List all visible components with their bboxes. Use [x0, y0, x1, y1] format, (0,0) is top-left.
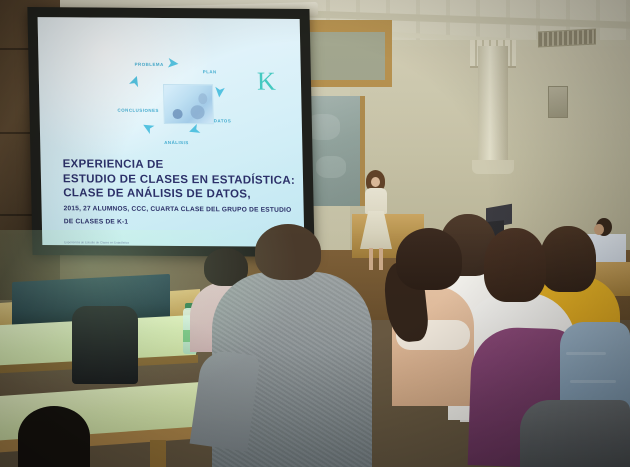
- cycle-label-analisis: Análisis: [164, 140, 189, 145]
- seated-man-face: [594, 224, 604, 235]
- student-grey-sweater-hair: [255, 224, 321, 280]
- ppdac-cycle-diagram: Problema ➤ Plan ➤ Datos ➤ Análisis ➤ Con…: [120, 60, 252, 149]
- window: [300, 20, 392, 87]
- presenter-leg: [369, 248, 373, 270]
- cycle-label-plan: Plan: [203, 69, 217, 74]
- slide-title-line-1: EXPERIENCIA DE: [63, 157, 293, 173]
- presenter-leg: [379, 248, 383, 270]
- presenter-torso: [365, 188, 387, 214]
- ceiling-vent: [538, 28, 596, 47]
- cycle-arrow-right: ➤: [211, 85, 227, 99]
- classroom-photo: Problema ➤ Plan ➤ Datos ➤ Análisis ➤ Con…: [0, 0, 630, 467]
- presenter-face: [371, 177, 380, 187]
- slide-title-line-3: CLASE DE ANÁLISIS DE DATOS,: [63, 187, 293, 203]
- projection-screen: Problema ➤ Plan ➤ Datos ➤ Análisis ➤ Con…: [38, 17, 305, 247]
- pilaster-column: [478, 46, 508, 166]
- wall-speaker: [548, 86, 568, 118]
- student-bare-shoulders-hair: [396, 228, 462, 290]
- pilaster-base: [472, 160, 514, 174]
- student-mustard-hair: [540, 226, 596, 292]
- logo-letter-k: K: [257, 67, 276, 97]
- student-white-tee-hair: [484, 228, 546, 302]
- slide-text-block: EXPERIENCIA DE ESTUDIO DE CLASES EN ESTA…: [63, 157, 295, 246]
- cycle-arrow-left: ➤: [126, 73, 144, 90]
- student-foreground-left-head: [18, 406, 90, 467]
- slide-title-line-2: ESTUDIO DE CLASES EN ESTADÍSTICA:: [63, 172, 293, 188]
- cycle-arrow-top: ➤: [166, 55, 180, 71]
- slide-subtitle-line-1: 2015, 27 ALUMNOS, CCC, CUARTA CLASE DEL …: [63, 204, 293, 215]
- cycle-label-problema: Problema: [135, 62, 164, 67]
- cycle-label-datos: Datos: [214, 118, 232, 123]
- cycle-center-thumbnail: [163, 84, 214, 124]
- cycle-label-conclusiones: Conclusiones: [117, 108, 158, 113]
- office-chair: [72, 306, 138, 384]
- cycle-arrow-bottom-left: ➤: [139, 118, 157, 137]
- slide-subtitle-line-2: DE CLASES DE K-1: [64, 217, 294, 228]
- grey-bag: [520, 400, 630, 467]
- lower-bench-leg: [150, 440, 166, 467]
